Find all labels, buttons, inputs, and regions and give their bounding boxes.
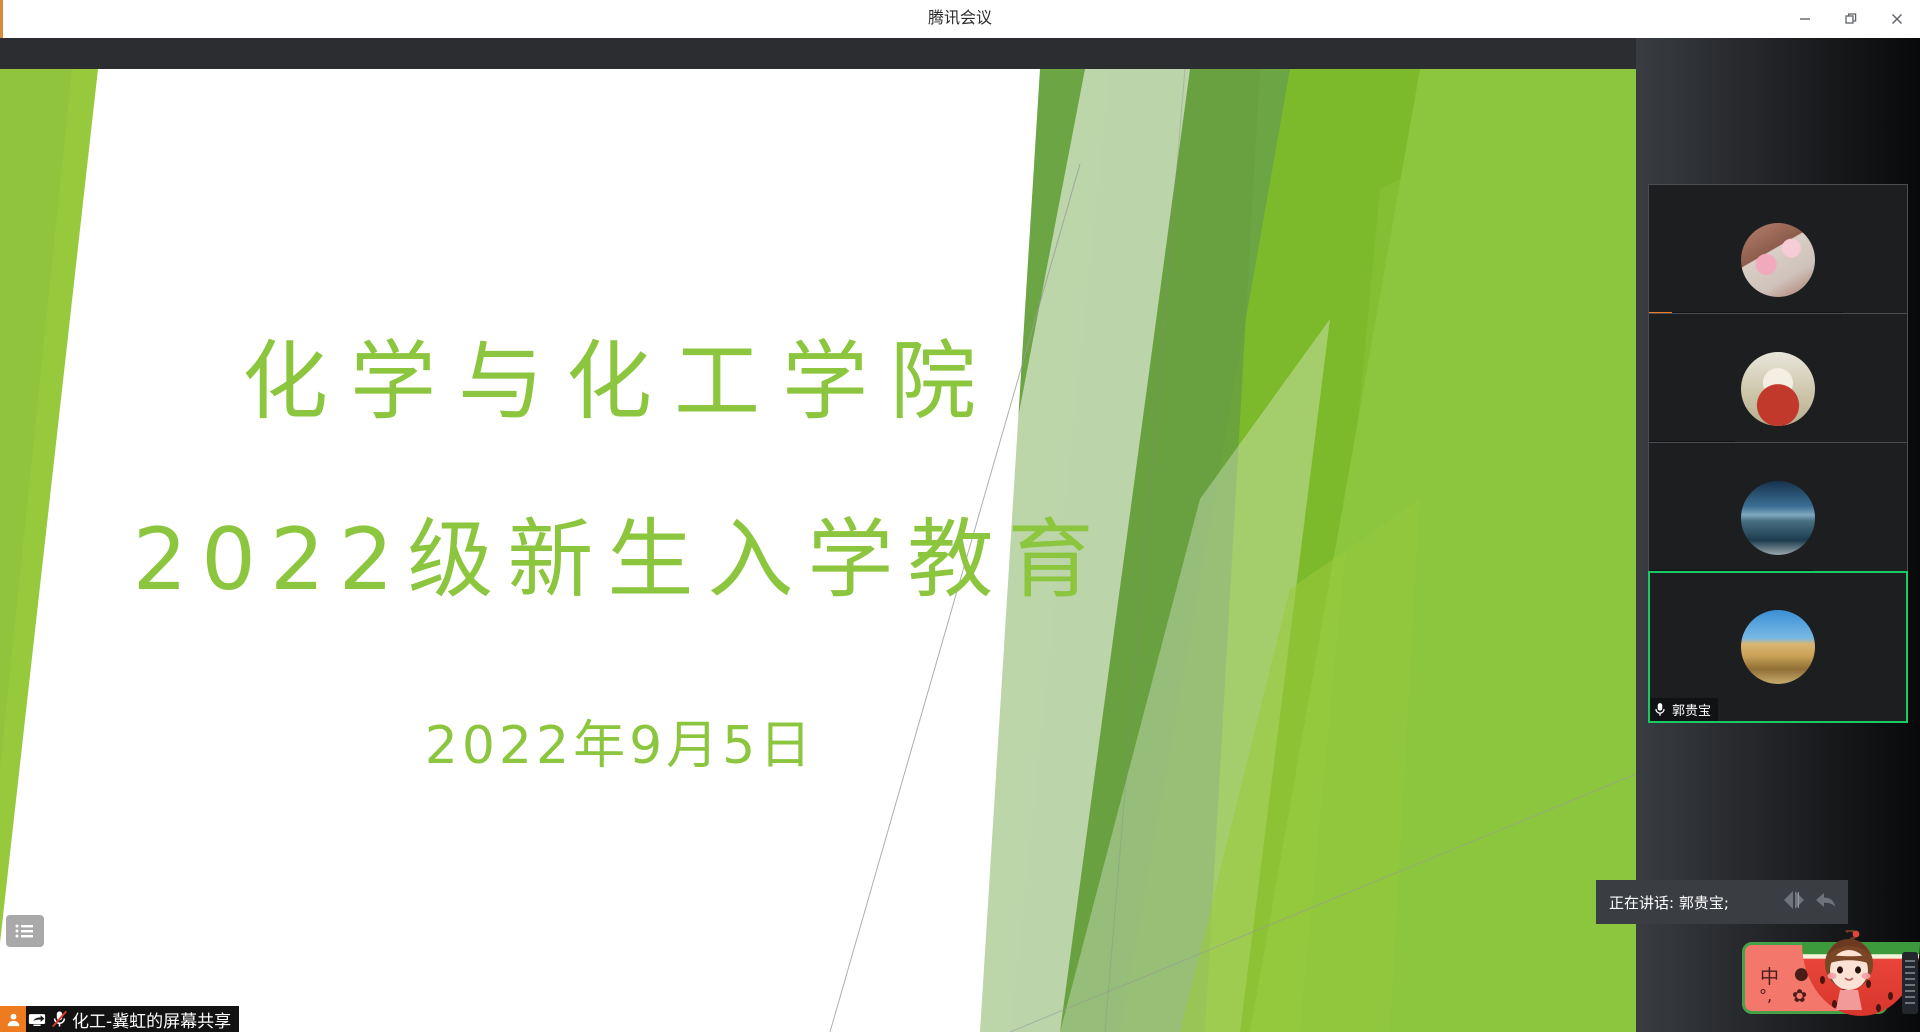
collapse-arrows-icon[interactable]	[1782, 889, 1812, 916]
screen-share-icon	[26, 1006, 48, 1032]
person-badge-icon	[0, 1006, 26, 1032]
ime-drag-handle[interactable]	[1902, 952, 1918, 1014]
ime-settings-button[interactable]: ✿	[1792, 986, 1807, 1007]
avatar	[1741, 481, 1815, 555]
speaking-banner[interactable]: 正在讲话: 郭贵宝;	[1596, 880, 1848, 924]
ime-language-button[interactable]: 中	[1760, 962, 1779, 989]
mic-muted-icon	[48, 1006, 70, 1032]
avatar	[1741, 352, 1815, 426]
slide-date: 2022年9月5日	[0, 703, 1240, 778]
window-controls	[1782, 0, 1920, 38]
restore-button[interactable]	[1828, 0, 1874, 38]
ime-mascot-girl	[1816, 930, 1884, 1012]
minimize-button[interactable]	[1782, 0, 1828, 38]
tencent-meeting-window: 腾讯会议	[0, 0, 1920, 1032]
reply-arrow-icon[interactable]	[1814, 889, 1838, 916]
list-menu-icon	[14, 923, 36, 939]
presentation-slide[interactable]: 化学与化工学院 2022级新生入学教育 2022年9月5日	[0, 69, 1636, 1032]
speaking-text: 正在讲话: 郭贵宝;	[1596, 892, 1729, 913]
screen-share-owner-label: 化工-冀虹的屏幕共享	[0, 1006, 239, 1032]
screen-share-owner-name: 化工-冀虹的屏幕共享	[70, 1007, 239, 1032]
shared-screen-area[interactable]: 化学与化工学院 2022级新生入学教育 2022年9月5日	[0, 38, 1636, 1032]
slideshow-menu-button[interactable]	[6, 915, 44, 947]
slide-title-line2: 2022级新生入学教育	[0, 489, 1240, 614]
participant-tile-active-speaker[interactable]: 郭贵宝	[1648, 571, 1908, 723]
avatar	[1741, 610, 1815, 684]
ime-toolbar[interactable]: 中 ● °, ✿	[1742, 930, 1920, 1026]
window-title: 腾讯会议	[0, 0, 1920, 38]
participant-name: 郭贵宝	[1670, 700, 1718, 719]
slide-title-line1: 化学与化工学院	[0, 311, 1240, 436]
close-button[interactable]	[1874, 0, 1920, 38]
participant-name-bar: 郭贵宝	[1650, 698, 1718, 721]
mic-on-icon	[1650, 698, 1670, 721]
title-bar: 腾讯会议	[0, 0, 1920, 39]
ime-punctuation-button[interactable]: °,	[1759, 986, 1772, 1005]
avatar	[1741, 223, 1815, 297]
speaking-banner-icons	[1782, 889, 1848, 916]
shared-screen-topbar	[0, 38, 1636, 69]
